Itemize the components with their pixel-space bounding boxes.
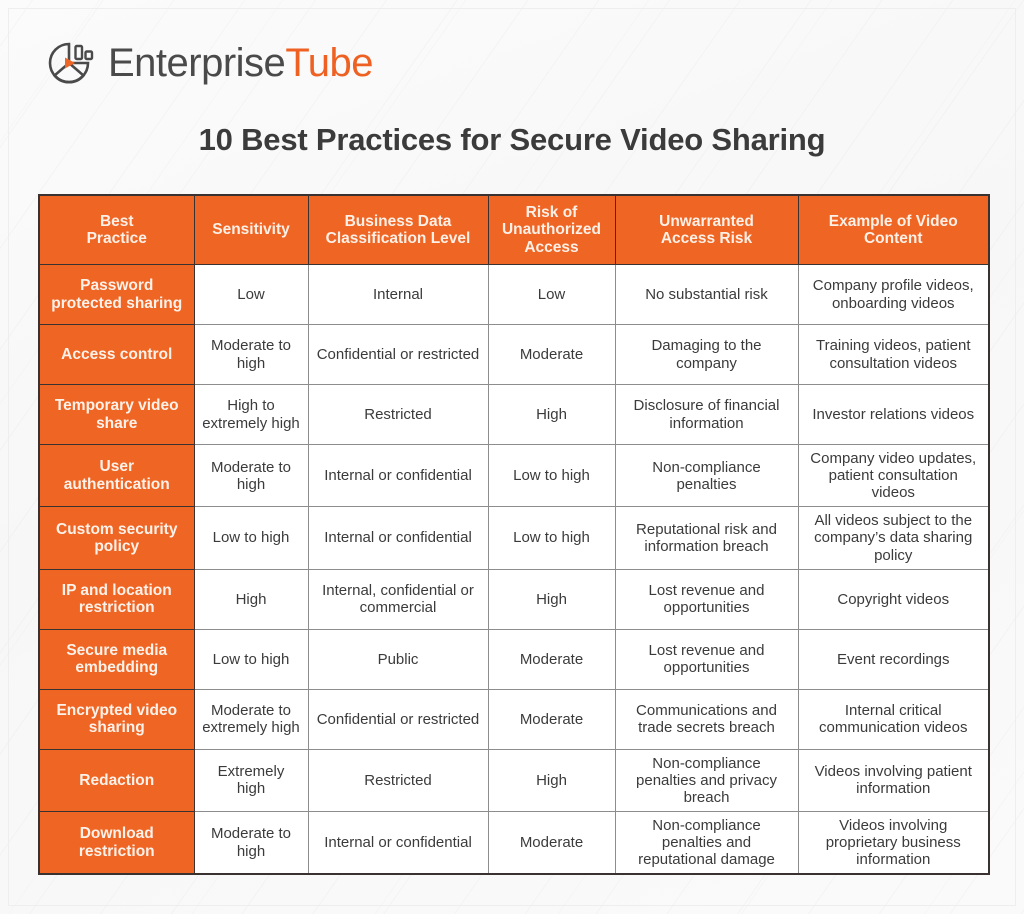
column-header-example-content: Example of VideoContent xyxy=(798,195,989,265)
table-row: Download restrictionModerate to highInte… xyxy=(39,811,989,874)
cell-unauthorized-access: Low xyxy=(488,265,615,325)
cell-example-content: All videos subject to the company’s data… xyxy=(798,507,989,569)
cell-sensitivity: Moderate to extremely high xyxy=(194,689,308,749)
cell-classification: Restricted xyxy=(308,385,488,445)
cell-classification: Public xyxy=(308,629,488,689)
table-row: IP and location restrictionHighInternal,… xyxy=(39,569,989,629)
table-row: Custom security policyLow to highInterna… xyxy=(39,507,989,569)
cell-unauthorized-access: Moderate xyxy=(488,629,615,689)
cell-unwarranted-access-risk: Non-compliance penalties xyxy=(615,445,798,507)
cell-classification: Confidential or restricted xyxy=(308,325,488,385)
cell-example-content: Company video updates, patient consultat… xyxy=(798,445,989,507)
cell-unwarranted-access-risk: Lost revenue and opportunities xyxy=(615,569,798,629)
cell-unwarranted-access-risk: Damaging to the company xyxy=(615,325,798,385)
cell-best-practice: Temporary video share xyxy=(39,385,194,445)
cell-sensitivity: High to extremely high xyxy=(194,385,308,445)
cell-classification: Internal xyxy=(308,265,488,325)
cell-unauthorized-access: High xyxy=(488,385,615,445)
table-row: User authenticationModerate to highInter… xyxy=(39,445,989,507)
best-practices-table: BestPractice Sensitivity Business DataCl… xyxy=(38,194,990,875)
cell-unauthorized-access: Moderate xyxy=(488,325,615,385)
cell-example-content: Copyright videos xyxy=(798,569,989,629)
cell-example-content: Internal critical communication videos xyxy=(798,689,989,749)
cell-sensitivity: Extremely high xyxy=(194,749,308,811)
cell-best-practice: Custom security policy xyxy=(39,507,194,569)
cell-unwarranted-access-risk: No substantial risk xyxy=(615,265,798,325)
cell-example-content: Training videos, patient consultation vi… xyxy=(798,325,989,385)
brand-name: EnterpriseTube xyxy=(108,43,373,83)
cell-unwarranted-access-risk: Reputational risk and information breach xyxy=(615,507,798,569)
cell-unauthorized-access: High xyxy=(488,749,615,811)
cell-sensitivity: Low to high xyxy=(194,629,308,689)
column-header-classification: Business DataClassification Level xyxy=(308,195,488,265)
table-header-row: BestPractice Sensitivity Business DataCl… xyxy=(39,195,989,265)
cell-classification: Restricted xyxy=(308,749,488,811)
cell-sensitivity: Moderate to high xyxy=(194,445,308,507)
pie-chart-play-icon xyxy=(40,34,98,92)
cell-best-practice: IP and location restriction xyxy=(39,569,194,629)
cell-sensitivity: Moderate to high xyxy=(194,811,308,874)
cell-unwarranted-access-risk: Disclosure of financial information xyxy=(615,385,798,445)
brand-logo: EnterpriseTube xyxy=(40,34,373,92)
cell-classification: Internal, confidential or commercial xyxy=(308,569,488,629)
table-header: BestPractice Sensitivity Business DataCl… xyxy=(39,195,989,265)
table-row: RedactionExtremely highRestrictedHighNon… xyxy=(39,749,989,811)
cell-example-content: Company profile videos, onboarding video… xyxy=(798,265,989,325)
cell-unauthorized-access: Moderate xyxy=(488,689,615,749)
cell-best-practice: Download restriction xyxy=(39,811,194,874)
table-row: Secure media embeddingLow to highPublicM… xyxy=(39,629,989,689)
cell-unwarranted-access-risk: Communications and trade secrets breach xyxy=(615,689,798,749)
table-row: Encrypted video sharingModerate to extre… xyxy=(39,689,989,749)
cell-best-practice: Access control xyxy=(39,325,194,385)
cell-unwarranted-access-risk: Non-compliance penalties and reputationa… xyxy=(615,811,798,874)
best-practices-table-container: BestPractice Sensitivity Business DataCl… xyxy=(38,194,988,875)
cell-sensitivity: High xyxy=(194,569,308,629)
cell-classification: Internal or confidential xyxy=(308,811,488,874)
cell-classification: Internal or confidential xyxy=(308,507,488,569)
column-header-best-practice: BestPractice xyxy=(39,195,194,265)
cell-best-practice: Secure media embedding xyxy=(39,629,194,689)
table-body: Password protected sharingLowInternalLow… xyxy=(39,265,989,875)
table-row: Temporary video shareHigh to extremely h… xyxy=(39,385,989,445)
cell-best-practice: Password protected sharing xyxy=(39,265,194,325)
cell-example-content: Investor relations videos xyxy=(798,385,989,445)
table-row: Password protected sharingLowInternalLow… xyxy=(39,265,989,325)
column-header-unauthorized-access: Risk ofUnauthorizedAccess xyxy=(488,195,615,265)
column-header-unwarranted-access-risk: UnwarrantedAccess Risk xyxy=(615,195,798,265)
cell-sensitivity: Low to high xyxy=(194,507,308,569)
cell-example-content: Event recordings xyxy=(798,629,989,689)
table-row: Access controlModerate to highConfidenti… xyxy=(39,325,989,385)
column-header-sensitivity: Sensitivity xyxy=(194,195,308,265)
cell-unwarranted-access-risk: Non-compliance penalties and privacy bre… xyxy=(615,749,798,811)
cell-classification: Internal or confidential xyxy=(308,445,488,507)
cell-example-content: Videos involving patient information xyxy=(798,749,989,811)
cell-best-practice: Encrypted video sharing xyxy=(39,689,194,749)
brand-name-part2: Tube xyxy=(285,41,373,85)
brand-name-part1: Enterprise xyxy=(108,41,285,85)
cell-unwarranted-access-risk: Lost revenue and opportunities xyxy=(615,629,798,689)
cell-sensitivity: Moderate to high xyxy=(194,325,308,385)
cell-unauthorized-access: Low to high xyxy=(488,445,615,507)
cell-best-practice: Redaction xyxy=(39,749,194,811)
cell-classification: Confidential or restricted xyxy=(308,689,488,749)
page-title: 10 Best Practices for Secure Video Shari… xyxy=(0,122,1024,158)
cell-unauthorized-access: Moderate xyxy=(488,811,615,874)
cell-best-practice: User authentication xyxy=(39,445,194,507)
cell-example-content: Videos involving proprietary business in… xyxy=(798,811,989,874)
cell-unauthorized-access: Low to high xyxy=(488,507,615,569)
infographic-page: EnterpriseTube 10 Best Practices for Sec… xyxy=(0,0,1024,914)
cell-sensitivity: Low xyxy=(194,265,308,325)
cell-unauthorized-access: High xyxy=(488,569,615,629)
